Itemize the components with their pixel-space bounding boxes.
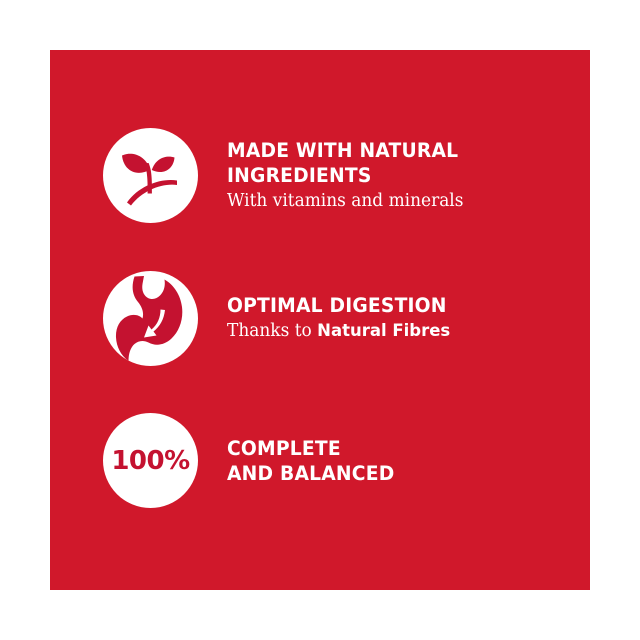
- feature-subtitle-lead-natural-ingredients: With vitamins and minerals: [227, 191, 463, 211]
- feature-subtitle-emphasis-optimal-digestion: Natural Fibres: [317, 321, 450, 341]
- feature-subtitle-natural-ingredients: With vitamins and minerals: [227, 189, 463, 214]
- red-feature-panel: MADE WITH NATURAL INGREDIENTS With vitam…: [50, 50, 590, 590]
- feature-subtitle-lead-optimal-digestion: Thanks to: [227, 321, 317, 341]
- feature-text-complete-balanced: COMPLETE AND BALANCED: [227, 436, 401, 486]
- feature-title-natural-ingredients: MADE WITH NATURAL INGREDIENTS: [227, 138, 461, 188]
- feature-text-natural-ingredients: MADE WITH NATURAL INGREDIENTS With vitam…: [227, 138, 471, 214]
- feature-subtitle-optimal-digestion: Thanks to Natural Fibres: [227, 319, 450, 344]
- feature-row-optimal-digestion: OPTIMAL DIGESTION Thanks to Natural Fibr…: [103, 271, 457, 366]
- icon-badge-complete-balanced: 100%: [103, 413, 198, 508]
- infographic-panel-stage: MADE WITH NATURAL INGREDIENTS With vitam…: [0, 0, 640, 640]
- percent-100-badge-label: 100%: [111, 448, 189, 474]
- feature-title-optimal-digestion: OPTIMAL DIGESTION: [227, 293, 448, 318]
- plant-sprout-icon: [103, 128, 198, 223]
- icon-badge-natural-ingredients: [103, 128, 198, 223]
- feature-row-complete-balanced: 100% COMPLETE AND BALANCED: [103, 413, 401, 508]
- feature-title-complete-balanced: COMPLETE AND BALANCED: [227, 436, 394, 486]
- stomach-icon: [103, 271, 198, 366]
- feature-text-optimal-digestion: OPTIMAL DIGESTION Thanks to Natural Fibr…: [227, 293, 457, 344]
- feature-row-natural-ingredients: MADE WITH NATURAL INGREDIENTS With vitam…: [103, 128, 471, 223]
- icon-badge-optimal-digestion: [103, 271, 198, 366]
